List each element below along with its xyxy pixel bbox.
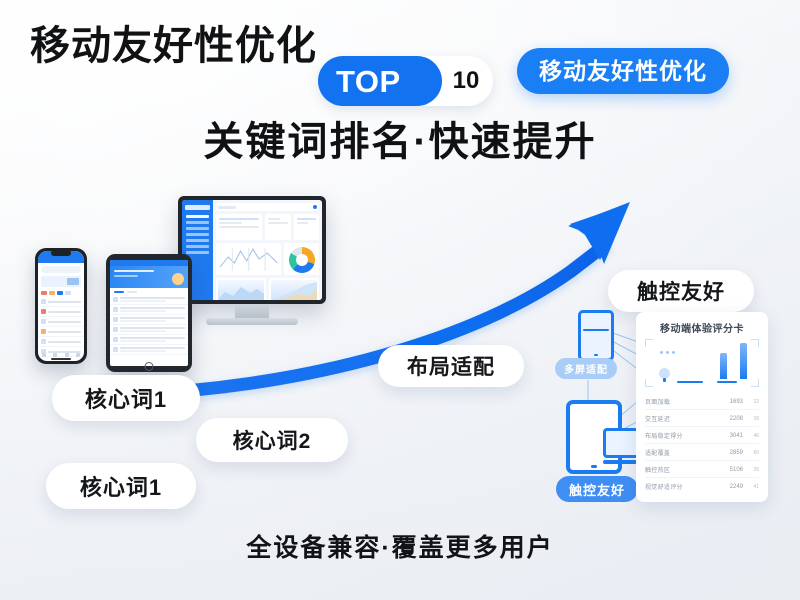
- mobile-experience-diagram: 多屏适配 触控友好 移动端体验评分卡: [548, 300, 772, 512]
- phone-list-item: [38, 337, 84, 347]
- item-text: [120, 307, 185, 312]
- phone-notch: [51, 250, 71, 256]
- tablet-banner: [110, 266, 188, 288]
- phone-icon-button: [594, 354, 598, 356]
- item-text: [48, 331, 81, 333]
- keyword-pill-3[interactable]: 核心词1: [46, 463, 196, 509]
- tabbar-icon: [65, 353, 69, 357]
- dashboard-main: [213, 200, 322, 300]
- score-row: 视觉舒适评分 2249 41: [645, 478, 759, 494]
- score-row-value: 1693: [723, 399, 743, 405]
- dashboard-row: [216, 214, 319, 240]
- area-chart-svg: [218, 280, 264, 300]
- card-line: [268, 222, 287, 224]
- dashboard-nav-item: [186, 221, 209, 224]
- monitor-neck: [235, 304, 269, 318]
- item-icon: [41, 339, 46, 344]
- keyword-pill-1[interactable]: 核心词1: [52, 375, 200, 421]
- item-text: [120, 337, 185, 342]
- chart-bar: [740, 343, 747, 379]
- phone-list-item: [38, 297, 84, 307]
- chart-bars: [663, 343, 747, 379]
- item-text: [48, 311, 81, 313]
- card-line: [297, 222, 309, 224]
- footer-tagline: 全设备兼容·覆盖更多用户: [0, 528, 800, 564]
- score-row-delta: 18: [747, 416, 759, 422]
- item-icon: [41, 309, 46, 314]
- phone-list-item: [38, 317, 84, 327]
- top-rank-badge: TOP 10: [318, 56, 493, 106]
- frame-corner: [751, 379, 759, 387]
- phone-home-indicator: [51, 358, 71, 360]
- dashboard-nav-item: [186, 233, 209, 236]
- item-icon: [41, 299, 46, 304]
- item-text: [48, 321, 81, 323]
- tablet-list-item: [110, 335, 188, 345]
- mobile-score-card: 移动端体验评分卡 页面加载 1693 32: [636, 312, 768, 502]
- phone-mockup: [35, 248, 87, 364]
- tabbar-icon: [42, 353, 46, 357]
- score-row: 触控热区 5106 26: [645, 461, 759, 478]
- tablet-list-item: [110, 295, 188, 305]
- item-text: [48, 301, 81, 303]
- tablet-screen: [110, 260, 188, 366]
- line-chart-svg: [218, 245, 279, 273]
- dashboard-logo: [185, 205, 210, 210]
- area-chart-svg-2: [271, 280, 317, 300]
- score-row-name: 触控热区: [645, 465, 719, 474]
- dashboard-card: [294, 214, 319, 240]
- item-text: [48, 341, 81, 343]
- tablet-mockup: [106, 254, 192, 372]
- monitor-foot: [206, 318, 298, 325]
- chart-bar: [720, 353, 727, 379]
- dashboard-row: [216, 278, 319, 300]
- dashboard-nav-item: [186, 215, 209, 218]
- score-row-value: 2249: [723, 484, 743, 490]
- card-line: [219, 226, 260, 228]
- dashboard-avatar: [313, 205, 317, 209]
- callout-layout-adaptation[interactable]: 布局适配: [378, 345, 524, 387]
- score-row-name: 布局稳定得分: [645, 431, 719, 440]
- score-card-rows: 页面加载 1693 32 交互延迟 2208 18 布局稳定得分 3041 46…: [645, 393, 759, 494]
- score-row-name: 视觉舒适评分: [645, 482, 719, 491]
- tablet-list-item: [110, 315, 188, 325]
- diagram-phone-top-icon: [578, 310, 614, 361]
- tablet-home-button: [145, 362, 154, 371]
- top-badge-word: TOP: [336, 66, 401, 97]
- score-row-value: 2208: [723, 416, 743, 422]
- dashboard-nav-item: [186, 239, 209, 242]
- monitor-screen: [182, 200, 322, 300]
- score-row-delta: 46: [747, 433, 759, 439]
- chart-baseline: [717, 381, 737, 383]
- desktop-monitor-mockup: [178, 196, 326, 328]
- donut-chart: [289, 247, 315, 273]
- diagram-label-multiscreen: 多屏适配: [555, 358, 617, 379]
- score-row: 适配覆盖 2859 60: [645, 444, 759, 461]
- item-icon: [113, 307, 118, 312]
- tablet-list-item: [110, 345, 188, 355]
- item-icon: [113, 297, 118, 302]
- poster-canvas: 移动友好性优化 TOP 10 移动友好性优化 关键词排名·快速提升: [0, 0, 800, 600]
- phone-list-item: [38, 327, 84, 337]
- dashboard-card: [216, 214, 263, 240]
- keyword-pill-2[interactable]: 核心词2: [196, 418, 348, 462]
- score-row-value: 2859: [723, 450, 743, 456]
- dashboard-nav-item: [186, 227, 209, 230]
- phone-list-item: [38, 307, 84, 317]
- score-row: 页面加载 1693 32: [645, 393, 759, 410]
- dashboard-line-chart: [216, 243, 281, 275]
- dashboard-card: [265, 214, 290, 240]
- card-line: [268, 218, 280, 220]
- item-icon: [113, 327, 118, 332]
- item-icon: [113, 347, 118, 352]
- tabbar-icon: [76, 353, 80, 357]
- card-line: [219, 222, 242, 224]
- frame-corner: [751, 339, 759, 347]
- page-subtitle: 关键词排名·快速提升: [0, 120, 800, 164]
- score-card-title: 移动端体验评分卡: [645, 320, 759, 335]
- dashboard-area-chart: [216, 278, 266, 300]
- frame-corner: [645, 379, 653, 387]
- frame-corner: [645, 339, 653, 347]
- item-icon: [41, 319, 46, 324]
- score-row-delta: 32: [747, 399, 759, 405]
- area-chart: [218, 280, 264, 300]
- card-line: [297, 218, 316, 220]
- score-row: 交互延迟 2208 18: [645, 410, 759, 427]
- top-badge-number: 10: [453, 69, 480, 93]
- dashboard-search-bar: [218, 206, 236, 209]
- device-mockups: [28, 196, 328, 376]
- score-card-chart: [645, 339, 759, 387]
- dashboard-area-chart: [269, 278, 319, 300]
- score-row-delta: 41: [747, 484, 759, 490]
- diagram-label-touch-friendly: 触控友好: [556, 476, 638, 502]
- dashboard-topbar: [216, 203, 319, 211]
- tablet-list-item: [110, 325, 188, 335]
- page-title: 移动友好性优化: [30, 26, 317, 66]
- score-row-delta: 60: [747, 450, 759, 456]
- card-line: [219, 218, 260, 220]
- score-row-name: 页面加载: [645, 397, 719, 406]
- item-icon: [41, 329, 46, 334]
- score-row: 布局稳定得分 3041 46: [645, 427, 759, 444]
- tablet-list-item: [110, 305, 188, 315]
- score-row-delta: 26: [747, 467, 759, 473]
- item-text: [120, 347, 185, 352]
- item-icon: [113, 317, 118, 322]
- dashboard-donut-chart: [284, 243, 319, 275]
- top-badge-number-circle: 10: [446, 61, 486, 101]
- score-row-value: 3041: [723, 433, 743, 439]
- item-icon: [113, 337, 118, 342]
- top-badge-inner: TOP: [318, 56, 442, 106]
- dashboard-row: [216, 243, 319, 275]
- score-row-value: 5106: [723, 467, 743, 473]
- item-text: [120, 327, 185, 332]
- chart-baseline: [677, 381, 703, 383]
- score-row-name: 交互延迟: [645, 414, 719, 423]
- phone-search-field[interactable]: [41, 266, 81, 273]
- phone-icon-divider: [583, 329, 609, 331]
- score-row-name: 适配覆盖: [645, 448, 719, 457]
- phone-screen: [38, 251, 84, 361]
- tabbar-icon: [53, 353, 57, 357]
- item-text: [120, 297, 185, 302]
- area-chart: [271, 280, 317, 300]
- header-tag-label: 移动友好性优化: [539, 60, 707, 83]
- dashboard-nav-item: [186, 251, 209, 254]
- item-text: [120, 317, 185, 322]
- dashboard-nav-item: [186, 245, 209, 248]
- phone-icon-button: [591, 465, 597, 468]
- monitor-bezel: [178, 196, 326, 304]
- header-tag-pill: 移动友好性优化: [517, 48, 729, 94]
